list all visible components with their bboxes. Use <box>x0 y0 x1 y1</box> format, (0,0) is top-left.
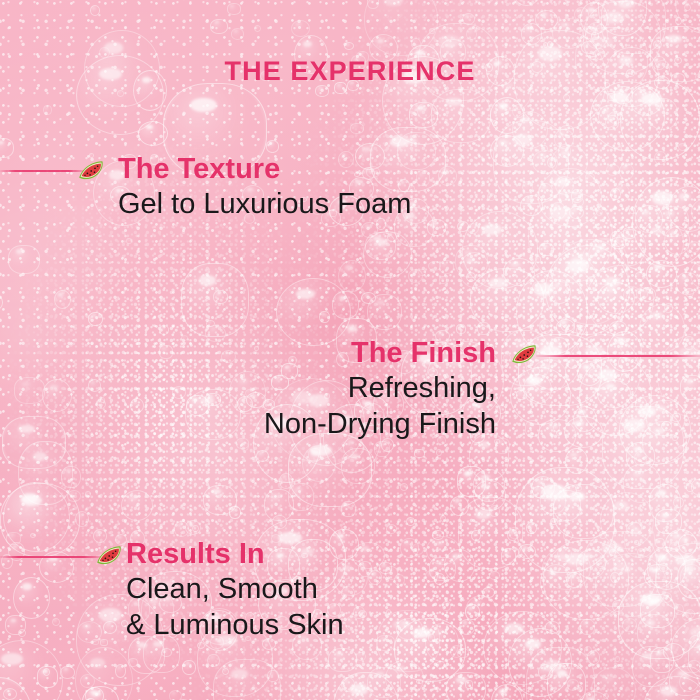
watermelon-slice-icon <box>77 160 105 180</box>
foam-bubble <box>462 211 538 288</box>
feature-eyebrow-finish: The Finish <box>264 336 496 370</box>
feature-line-results-1: Clean, Smooth <box>126 571 344 607</box>
experience-graphic: THE EXPERIENCE The Texture Gel to Luxuri… <box>0 0 700 700</box>
page-title: THE EXPERIENCE <box>0 56 700 87</box>
foam-bubble <box>565 334 641 411</box>
foam-bubble <box>181 263 249 336</box>
foam-bubble <box>288 433 372 508</box>
foam-bubble <box>586 265 654 334</box>
feature-eyebrow-results: Results In <box>126 537 344 571</box>
foam-bubble <box>394 618 466 682</box>
connector-line-texture <box>0 170 84 172</box>
connector-line-finish <box>536 355 700 357</box>
foam-bubble <box>508 628 572 697</box>
foam-bubble <box>185 389 241 441</box>
feature-block-finish: The Finish Refreshing, Non-Drying Finish <box>264 336 496 442</box>
foam-bubble <box>0 483 80 557</box>
foam-bubble <box>515 467 615 573</box>
foam-bubble <box>333 672 399 700</box>
feature-line-finish-1: Refreshing, <box>264 370 496 406</box>
feature-line-finish-2: Non-Drying Finish <box>264 406 496 442</box>
foam-bubble <box>643 676 700 700</box>
feature-block-results: Results In Clean, Smooth & Luminous Skin <box>126 537 344 643</box>
foam-bubble <box>618 581 700 658</box>
foam-bubble <box>0 640 63 700</box>
feature-line-texture-1: Gel to Luxurious Foam <box>118 186 411 222</box>
foam-bubble <box>591 667 636 700</box>
foam-bubble <box>620 80 700 161</box>
foam-bubble <box>619 395 691 465</box>
foam-bubble <box>551 145 588 180</box>
feature-eyebrow-texture: The Texture <box>118 152 411 186</box>
foam-bubble <box>458 497 523 569</box>
watermelon-slice-icon <box>95 545 123 565</box>
connector-line-results <box>0 556 102 558</box>
watermelon-slice-icon <box>510 344 538 364</box>
feature-line-results-2: & Luminous Skin <box>126 607 344 643</box>
feature-block-texture: The Texture Gel to Luxurious Foam <box>118 152 411 222</box>
foam-bubble <box>510 367 571 425</box>
foam-bubble <box>363 231 412 278</box>
